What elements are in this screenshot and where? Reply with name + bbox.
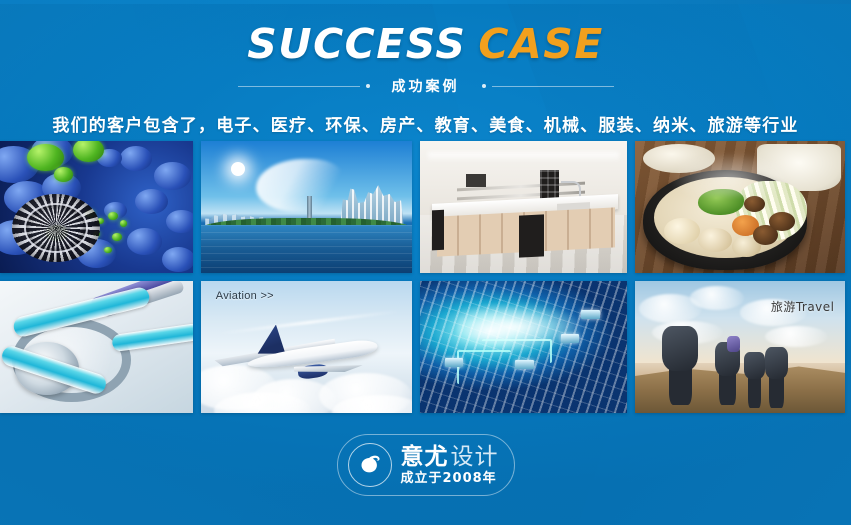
- page-subtitle-cn: 成功案例: [370, 76, 482, 96]
- title-success: SUCCESS: [247, 20, 466, 68]
- brand-established: 成立于2008年: [401, 472, 499, 486]
- divider-line-right: [492, 86, 614, 87]
- divider-line-left: [238, 86, 360, 87]
- brand-name-row: 意尤设计: [401, 445, 499, 469]
- nanotech-image: [0, 141, 193, 273]
- technology-image: [420, 281, 627, 413]
- travel-caption: 旅游Travel: [771, 298, 835, 315]
- gallery-item-nanotech[interactable]: [0, 141, 193, 273]
- gallery-item-aviation[interactable]: Aviation >>: [201, 281, 412, 413]
- environment-image: [201, 141, 412, 273]
- subtitle-divider-row: 成功案例: [0, 76, 851, 96]
- page-title: SUCCESSCASE: [0, 24, 851, 65]
- brand-name-light: 设计: [451, 444, 499, 470]
- aviation-caption: Aviation >>: [216, 290, 274, 302]
- brand-text: 意尤设计 成立于2008年: [401, 445, 499, 486]
- gallery-item-environment[interactable]: [201, 141, 412, 273]
- gallery-item-laboratory[interactable]: [420, 141, 627, 273]
- laboratory-image: [420, 141, 627, 273]
- aviation-image: Aviation >>: [201, 281, 412, 413]
- tagline-text: 我们的客户包含了，电子、医疗、环保、房产、教育、美食、机械、服装、纳米、旅游等行…: [0, 111, 851, 136]
- brand-name-bold: 意尤: [401, 444, 449, 470]
- brand-logo-badge[interactable]: 意尤设计 成立于2008年: [337, 434, 515, 496]
- medical-image: [0, 281, 193, 413]
- brand-mark-icon: [348, 443, 392, 487]
- title-case: CASE: [478, 20, 603, 68]
- divider-dot-right: [482, 84, 486, 88]
- gallery-item-food[interactable]: [635, 141, 845, 273]
- case-gallery-grid: Aviation >>: [0, 141, 851, 413]
- gallery-item-technology[interactable]: [420, 281, 627, 413]
- section-header: SUCCESSCASE 成功案例 我们的客户包含了，电子、医疗、环保、房产、教育…: [0, 0, 851, 136]
- food-image: [635, 141, 845, 273]
- travel-image: 旅游Travel: [635, 281, 845, 413]
- gallery-item-medical[interactable]: [0, 281, 193, 413]
- gallery-item-travel[interactable]: 旅游Travel: [635, 281, 845, 413]
